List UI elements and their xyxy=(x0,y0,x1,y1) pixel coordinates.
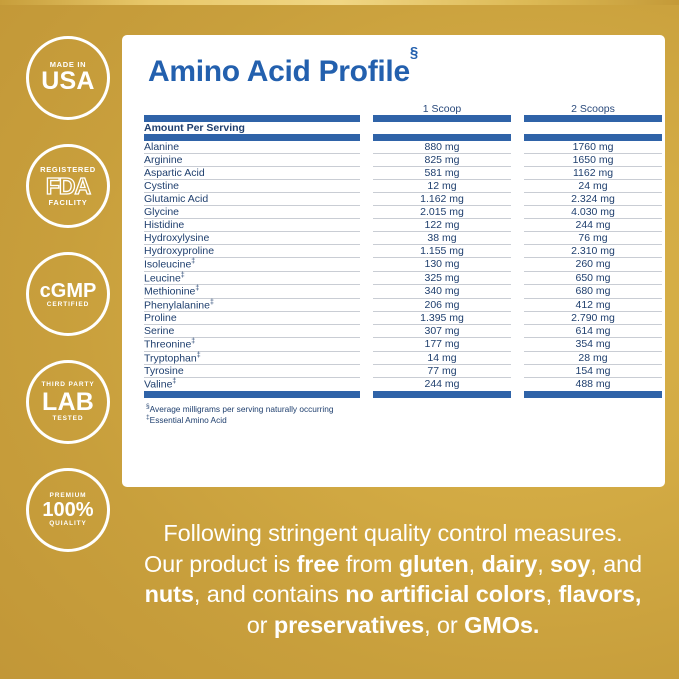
row-gap-1 xyxy=(360,219,373,232)
row-value-one-scoop: 14 mg xyxy=(373,351,511,365)
claim-l2-a: Our product is xyxy=(144,551,297,577)
row-gap-2 xyxy=(511,245,524,258)
page-title-text: Amino Acid Profile xyxy=(148,55,410,88)
row-value-two-scoops: 1162 mg xyxy=(524,167,662,180)
table-row: Glutamic Acid1.162 mg2.324 mg xyxy=(144,193,662,206)
column-header-one-scoop: 1 Scoop xyxy=(373,103,511,115)
quality-claim-text: Following stringent quality control meas… xyxy=(110,518,676,640)
row-nutrient-name: Tryptophan‡ xyxy=(144,351,360,365)
row-nutrient-name: Serine xyxy=(144,325,360,338)
table-row: Hydroxyproline1.155 mg2.310 mg xyxy=(144,245,662,258)
row-value-two-scoops: 260 mg xyxy=(524,258,662,272)
claim-l4-preservatives: preservatives xyxy=(274,612,424,638)
column-header-two-scoops: 2 Scoops xyxy=(524,103,662,115)
footnote-marker: § xyxy=(146,403,150,410)
claim-l2-e: , xyxy=(469,551,482,577)
row-value-one-scoop: 122 mg xyxy=(373,219,511,232)
bottom-rule-col2 xyxy=(524,391,662,398)
claim-l4-a: or xyxy=(247,612,274,638)
row-value-two-scoops: 1650 mg xyxy=(524,154,662,167)
second-rule-gap-1 xyxy=(360,134,373,141)
row-gap-1 xyxy=(360,141,373,154)
claim-l2-gluten: gluten xyxy=(399,551,469,577)
claim-l3-nuts: nuts xyxy=(145,581,194,607)
supplement-label-poster: MADE IN USA REGISTERED FDA FACILITY cGMP… xyxy=(0,0,679,679)
row-nutrient-name: Glutamic Acid xyxy=(144,193,360,206)
row-value-one-scoop: 130 mg xyxy=(373,258,511,272)
row-value-one-scoop: 177 mg xyxy=(373,338,511,352)
top-rule-row xyxy=(144,115,662,122)
claim-line-2: Our product is free from gluten, dairy, … xyxy=(110,549,676,580)
top-rule-name xyxy=(144,115,360,122)
aps-col1 xyxy=(373,122,511,134)
row-nutrient-name: Leucine‡ xyxy=(144,271,360,285)
badge-made-in-usa-line2: USA xyxy=(41,69,94,94)
top-rule-gap-2 xyxy=(511,115,524,122)
row-value-two-scoops: 4.030 mg xyxy=(524,206,662,219)
row-essential-marker: ‡ xyxy=(172,378,176,385)
claim-l3-flavors: flavors, xyxy=(559,581,642,607)
badge-lab-line3: TESTED xyxy=(52,416,83,423)
amino-acid-profile-card: Amino Acid Profile§ 1 Scoop 2 Scoops xyxy=(122,35,665,487)
page-title: Amino Acid Profile§ xyxy=(148,55,643,89)
claim-l2-soy: soy xyxy=(550,551,590,577)
row-essential-marker: ‡ xyxy=(181,272,185,279)
row-essential-marker: ‡ xyxy=(191,258,195,265)
row-value-one-scoop: 581 mg xyxy=(373,167,511,180)
second-rule-row xyxy=(144,134,662,141)
row-value-one-scoop: 1.155 mg xyxy=(373,245,511,258)
row-gap-1 xyxy=(360,365,373,378)
table-row: Proline1.395 mg2.790 mg xyxy=(144,312,662,325)
row-value-one-scoop: 77 mg xyxy=(373,365,511,378)
footnote-marker: ‡ xyxy=(146,414,150,421)
certification-badge-list: MADE IN USA REGISTERED FDA FACILITY cGMP… xyxy=(18,36,118,552)
claim-l3-b: , and contains xyxy=(194,581,345,607)
row-gap-2 xyxy=(511,154,524,167)
row-nutrient-name: Proline xyxy=(144,312,360,325)
row-value-two-scoops: 76 mg xyxy=(524,232,662,245)
row-value-one-scoop: 206 mg xyxy=(373,298,511,312)
row-gap-2 xyxy=(511,378,524,391)
row-gap-1 xyxy=(360,285,373,299)
row-value-two-scoops: 244 mg xyxy=(524,219,662,232)
top-rule-gap-1 xyxy=(360,115,373,122)
header-gap-1 xyxy=(360,103,373,115)
row-gap-1 xyxy=(360,258,373,272)
row-value-two-scoops: 354 mg xyxy=(524,338,662,352)
badge-fda-line3: FACILITY xyxy=(49,199,88,207)
badge-premium-line2: 100% xyxy=(42,500,93,520)
row-value-one-scoop: 1.395 mg xyxy=(373,312,511,325)
row-gap-1 xyxy=(360,325,373,338)
row-gap-2 xyxy=(511,232,524,245)
badge-cgmp-line3: CERTIFIED xyxy=(47,302,89,309)
row-gap-1 xyxy=(360,298,373,312)
aps-col2 xyxy=(524,122,662,134)
table-body: Alanine880 mg1760 mgArginine825 mg1650 m… xyxy=(144,141,662,391)
table-header-row: 1 Scoop 2 Scoops xyxy=(144,103,662,115)
claim-l4-gmos: GMOs. xyxy=(464,612,539,638)
row-nutrient-name: Methionine‡ xyxy=(144,285,360,299)
top-rule-col1 xyxy=(373,115,511,122)
bottom-rule-gap-2 xyxy=(511,391,524,398)
row-gap-1 xyxy=(360,206,373,219)
claim-l2-free: free xyxy=(297,551,340,577)
footnote-list: §Average milligrams per serving naturall… xyxy=(146,403,643,426)
row-nutrient-name: Aspartic Acid xyxy=(144,167,360,180)
table-row: Aspartic Acid581 mg1162 mg xyxy=(144,167,662,180)
row-essential-marker: ‡ xyxy=(210,299,214,306)
badge-third-party-lab-tested: THIRD PARTY LAB TESTED xyxy=(26,360,110,444)
table-row: Tryptophan‡14 mg28 mg xyxy=(144,351,662,365)
row-gap-2 xyxy=(511,206,524,219)
row-value-two-scoops: 28 mg xyxy=(524,351,662,365)
row-essential-marker: ‡ xyxy=(191,338,195,345)
table-row: Cystine12 mg24 mg xyxy=(144,180,662,193)
row-nutrient-name: Tyrosine xyxy=(144,365,360,378)
page-title-superscript: § xyxy=(410,44,418,61)
row-value-one-scoop: 880 mg xyxy=(373,141,511,154)
row-value-two-scoops: 154 mg xyxy=(524,365,662,378)
row-value-one-scoop: 307 mg xyxy=(373,325,511,338)
row-nutrient-name: Glycine xyxy=(144,206,360,219)
row-gap-1 xyxy=(360,232,373,245)
badge-made-in-usa: MADE IN USA xyxy=(26,36,110,120)
badge-premium-line3: QUIALITY xyxy=(49,521,87,528)
row-value-one-scoop: 1.162 mg xyxy=(373,193,511,206)
row-nutrient-name: Arginine xyxy=(144,154,360,167)
row-gap-2 xyxy=(511,180,524,193)
row-nutrient-name: Histidine xyxy=(144,219,360,232)
row-nutrient-name: Threonine‡ xyxy=(144,338,360,352)
aps-gap-2 xyxy=(511,122,524,134)
second-rule-name xyxy=(144,134,360,141)
table-row: Histidine122 mg244 mg xyxy=(144,219,662,232)
claim-l4-c: , or xyxy=(424,612,464,638)
claim-l3-d: , xyxy=(546,581,559,607)
badge-fda-line2: FDA xyxy=(46,175,90,198)
row-gap-2 xyxy=(511,141,524,154)
row-value-one-scoop: 38 mg xyxy=(373,232,511,245)
column-header-name xyxy=(144,103,360,115)
row-value-two-scoops: 614 mg xyxy=(524,325,662,338)
claim-l2-c: from xyxy=(339,551,398,577)
second-rule-gap-2 xyxy=(511,134,524,141)
row-gap-1 xyxy=(360,180,373,193)
footnote: §Average milligrams per serving naturall… xyxy=(146,403,643,415)
table-row: Glycine2.015 mg4.030 mg xyxy=(144,206,662,219)
row-gap-2 xyxy=(511,193,524,206)
row-nutrient-name: Valine‡ xyxy=(144,378,360,391)
second-rule-col2 xyxy=(524,134,662,141)
row-value-two-scoops: 680 mg xyxy=(524,285,662,299)
row-value-one-scoop: 340 mg xyxy=(373,285,511,299)
row-gap-1 xyxy=(360,378,373,391)
row-gap-2 xyxy=(511,351,524,365)
row-gap-1 xyxy=(360,338,373,352)
table-row: Serine307 mg614 mg xyxy=(144,325,662,338)
row-gap-2 xyxy=(511,325,524,338)
row-value-two-scoops: 2.310 mg xyxy=(524,245,662,258)
amino-acid-table: 1 Scoop 2 Scoops Amount Per Serving xyxy=(144,103,662,398)
row-gap-2 xyxy=(511,258,524,272)
badge-cgmp-certified: cGMP CERTIFIED xyxy=(26,252,110,336)
second-rule-col1 xyxy=(373,134,511,141)
row-gap-2 xyxy=(511,365,524,378)
row-nutrient-name: Phenylalanine‡ xyxy=(144,298,360,312)
row-essential-marker: ‡ xyxy=(197,352,201,359)
row-nutrient-name: Hydroxyproline xyxy=(144,245,360,258)
row-value-two-scoops: 1760 mg xyxy=(524,141,662,154)
badge-lab-line2: LAB xyxy=(42,390,94,415)
row-value-one-scoop: 2.015 mg xyxy=(373,206,511,219)
header-gap-2 xyxy=(511,103,524,115)
footnote: ‡Essential Amino Acid xyxy=(146,414,643,426)
row-value-two-scoops: 2.324 mg xyxy=(524,193,662,206)
aps-gap-1 xyxy=(360,122,373,134)
claim-l2-dairy: dairy xyxy=(482,551,538,577)
row-gap-1 xyxy=(360,312,373,325)
row-nutrient-name: Isoleucine‡ xyxy=(144,258,360,272)
table-row: Threonine‡177 mg354 mg xyxy=(144,338,662,352)
claim-l2-i: , and xyxy=(590,551,642,577)
claim-line-1: Following stringent quality control meas… xyxy=(110,518,676,549)
bottom-rule-col1 xyxy=(373,391,511,398)
row-gap-1 xyxy=(360,193,373,206)
table-row: Methionine‡340 mg680 mg xyxy=(144,285,662,299)
badge-premium-quality: PREMIUM 100% QUIALITY xyxy=(26,468,110,552)
row-gap-2 xyxy=(511,271,524,285)
row-nutrient-name: Hydroxylysine xyxy=(144,232,360,245)
claim-l2-g: , xyxy=(537,551,550,577)
claim-line-3: nuts, and contains no artificial colors,… xyxy=(110,579,676,610)
row-gap-2 xyxy=(511,285,524,299)
row-gap-2 xyxy=(511,219,524,232)
row-value-two-scoops: 488 mg xyxy=(524,378,662,391)
table-row: Arginine825 mg1650 mg xyxy=(144,154,662,167)
row-gap-2 xyxy=(511,298,524,312)
row-gap-1 xyxy=(360,351,373,365)
row-value-two-scoops: 24 mg xyxy=(524,180,662,193)
amount-per-serving-label: Amount Per Serving xyxy=(144,122,360,134)
claim-l3-no-artificial-colors: no artificial colors xyxy=(345,581,545,607)
top-rule-col2 xyxy=(524,115,662,122)
badge-fda-registered-facility: REGISTERED FDA FACILITY xyxy=(26,144,110,228)
row-value-one-scoop: 825 mg xyxy=(373,154,511,167)
amount-per-serving-row: Amount Per Serving xyxy=(144,122,662,134)
row-value-two-scoops: 2.790 mg xyxy=(524,312,662,325)
table-row: Isoleucine‡130 mg260 mg xyxy=(144,258,662,272)
row-value-two-scoops: 412 mg xyxy=(524,298,662,312)
row-gap-2 xyxy=(511,312,524,325)
row-value-one-scoop: 325 mg xyxy=(373,271,511,285)
row-value-two-scoops: 650 mg xyxy=(524,271,662,285)
row-nutrient-name: Alanine xyxy=(144,141,360,154)
bottom-rule-name xyxy=(144,391,360,398)
table-row: Hydroxylysine38 mg76 mg xyxy=(144,232,662,245)
claim-line1-text: Following stringent quality control meas… xyxy=(163,520,622,546)
row-essential-marker: ‡ xyxy=(195,285,199,292)
table-row: Valine‡244 mg488 mg xyxy=(144,378,662,391)
table-row: Alanine880 mg1760 mg xyxy=(144,141,662,154)
bottom-rule-row xyxy=(144,391,662,398)
row-gap-1 xyxy=(360,154,373,167)
claim-line-4: or preservatives, or GMOs. xyxy=(110,610,676,641)
row-value-one-scoop: 244 mg xyxy=(373,378,511,391)
row-gap-1 xyxy=(360,167,373,180)
table-row: Phenylalanine‡206 mg412 mg xyxy=(144,298,662,312)
row-value-one-scoop: 12 mg xyxy=(373,180,511,193)
row-gap-1 xyxy=(360,271,373,285)
row-gap-2 xyxy=(511,167,524,180)
table-row: Leucine‡325 mg650 mg xyxy=(144,271,662,285)
badge-cgmp-line2: cGMP xyxy=(40,281,97,301)
row-gap-1 xyxy=(360,245,373,258)
row-nutrient-name: Cystine xyxy=(144,180,360,193)
table-row: Tyrosine77 mg154 mg xyxy=(144,365,662,378)
bottom-rule-gap-1 xyxy=(360,391,373,398)
row-gap-2 xyxy=(511,338,524,352)
